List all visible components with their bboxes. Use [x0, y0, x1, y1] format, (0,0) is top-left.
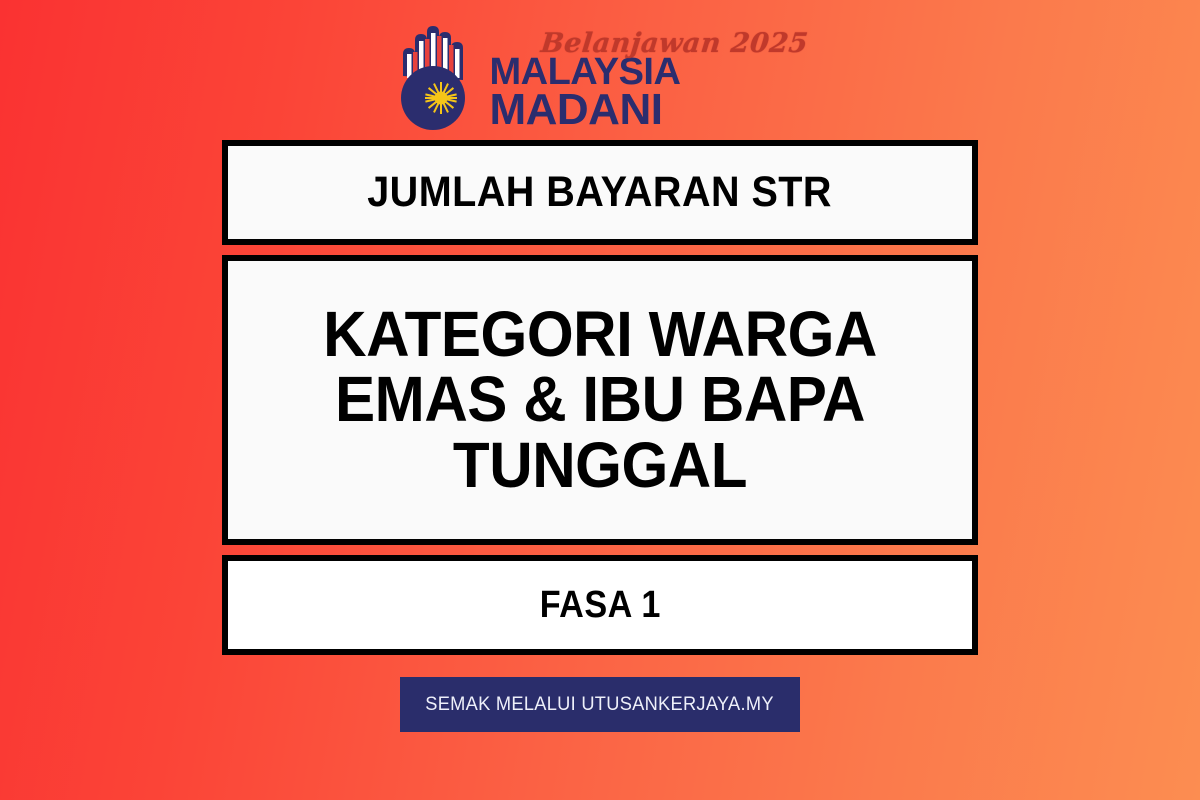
panel-stack: JUMLAH BAYARAN STR KATEGORI WARGA EMAS &… — [222, 140, 978, 655]
malaysia-madani-logo-icon — [391, 24, 483, 134]
logo-wordmark: Belanjawan 2025 MALAYSIA MADANI — [489, 28, 808, 134]
subtitle-panel: JUMLAH BAYARAN STR — [222, 140, 978, 245]
logo-script-text: Belanjawan 2025 — [540, 28, 810, 59]
subtitle-text: JUMLAH BAYARAN STR — [368, 168, 833, 217]
source-banner[interactable]: SEMAK MELALUI UTUSANKERJAYA.MY — [400, 677, 800, 732]
poster-canvas: Belanjawan 2025 MALAYSIA MADANI JUMLAH B… — [0, 0, 1200, 800]
brand-logo: Belanjawan 2025 MALAYSIA MADANI — [391, 14, 808, 134]
phase-text: FASA 1 — [539, 584, 660, 627]
headline-panel: KATEGORI WARGA EMAS & IBU BAPA TUNGGAL — [222, 255, 978, 545]
logo-line-madani: MADANI — [489, 90, 808, 130]
source-banner-text: SEMAK MELALUI UTUSANKERJAYA.MY — [426, 694, 775, 716]
phase-panel: FASA 1 — [222, 555, 978, 655]
headline-text: KATEGORI WARGA EMAS & IBU BAPA TUNGGAL — [250, 302, 949, 498]
